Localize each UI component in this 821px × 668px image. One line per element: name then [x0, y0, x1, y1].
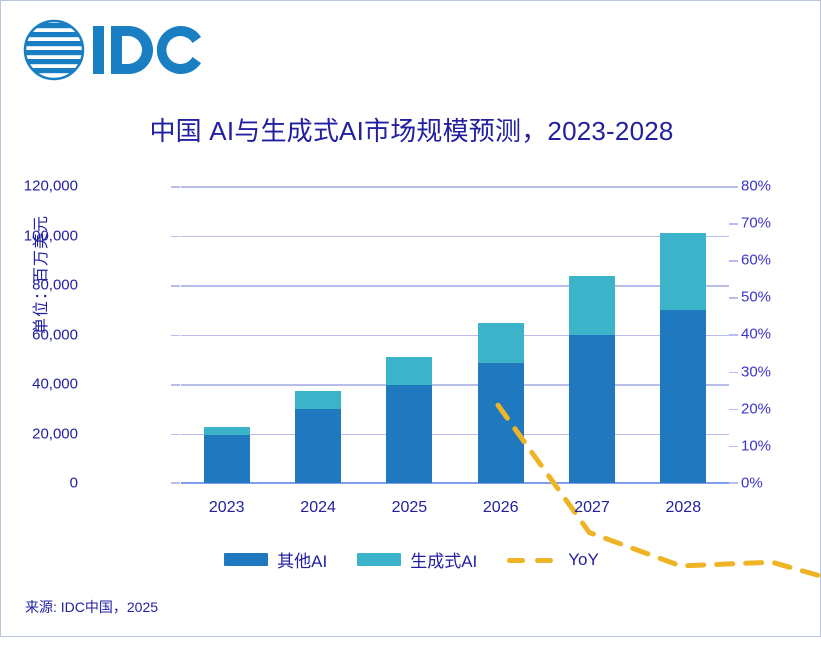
gridline-60000: [181, 335, 729, 337]
y-tick-label-20000: 20,000: [32, 425, 78, 442]
legend-item-other-ai[interactable]: 其他AI: [224, 547, 327, 572]
bar-segment-other-ai-2028: [660, 310, 706, 483]
source-note: 来源: IDC中国，2025: [25, 597, 158, 617]
bar-2024: [295, 391, 341, 483]
gridline-100000: [181, 236, 729, 238]
y2-tick-label-80: 80%: [741, 178, 771, 195]
legend-label-genai: 生成式AI: [410, 547, 477, 572]
tick-left-40000: [171, 384, 180, 386]
chart-title: 中国 AI与生成式AI市场规模预测，2023-2028: [1, 111, 821, 148]
y-tick-label-80000: 80,000: [32, 277, 78, 294]
gridline-40000: [181, 384, 729, 386]
bar-segment-genai-2024: [295, 391, 341, 409]
bar-segment-other-ai-2026: [478, 363, 524, 483]
legend-label-yoy: YoY: [568, 550, 599, 570]
bar-2028: [660, 233, 706, 483]
y-tick-label-120000: 120,000: [24, 178, 78, 195]
tick-left-80000: [171, 285, 180, 287]
y2-tick-label-50: 50%: [741, 289, 771, 306]
y-tick-label-40000: 40,000: [32, 376, 78, 393]
y-tick-label-60000: 60,000: [32, 326, 78, 343]
bar-2023: [204, 427, 250, 483]
bar-segment-genai-2028: [660, 233, 706, 310]
bar-segment-other-ai-2027: [569, 335, 615, 483]
y2-tick-label-20: 20%: [741, 400, 771, 417]
bar-segment-genai-2025: [386, 357, 432, 385]
y-tick-label-100000: 100,000: [24, 227, 78, 244]
tick-right-0: [729, 482, 738, 484]
gridline-20000: [181, 434, 729, 436]
legend-item-genai[interactable]: 生成式AI: [357, 547, 477, 572]
bar-segment-other-ai-2023: [204, 435, 250, 483]
legend-swatch-other-ai: [224, 553, 268, 566]
x-tick-label-2026: 2026: [456, 499, 546, 517]
gridline-120000: [181, 186, 729, 188]
tick-left-0: [171, 482, 180, 484]
x-tick-label-2024: 2024: [273, 499, 363, 517]
chart-page: 中国 AI与生成式AI市场规模预测，2023-2028 单位：百万美元 120,…: [0, 0, 821, 637]
gridline-80000: [181, 285, 729, 287]
y2-tick-label-0: 0%: [741, 475, 763, 492]
tick-left-20000: [171, 434, 180, 436]
bar-segment-genai-2027: [569, 276, 615, 335]
legend-label-other-ai: 其他AI: [277, 547, 327, 572]
tick-left-120000: [171, 186, 180, 188]
x-tick-label-2025: 2025: [364, 499, 454, 517]
tick-left-60000: [171, 335, 180, 337]
bar-2027: [569, 276, 615, 483]
bar-2025: [386, 357, 432, 483]
x-tick-label-2023: 2023: [182, 499, 272, 517]
bar-segment-other-ai-2024: [295, 409, 341, 483]
y-tick-label-0: 0: [70, 475, 78, 492]
tick-left-100000: [171, 236, 180, 238]
legend-swatch-yoy: [507, 553, 559, 566]
tick-right-80: [729, 186, 738, 188]
x-axis-line: [181, 482, 729, 484]
x-tick-label-2028: 2028: [638, 499, 728, 517]
plot-area: [181, 186, 729, 483]
y2-tick-label-70: 70%: [741, 215, 771, 232]
idc-logo: [23, 19, 213, 81]
bar-segment-genai-2026: [478, 323, 524, 363]
y2-tick-label-40: 40%: [741, 326, 771, 343]
y2-tick-label-60: 60%: [741, 252, 771, 269]
bar-2026: [478, 323, 524, 483]
chart-legend: 其他AI 生成式AI YoY: [1, 547, 821, 572]
x-tick-label-2027: 2027: [547, 499, 637, 517]
tick-right-40: [729, 334, 738, 336]
legend-swatch-genai: [357, 553, 401, 566]
y2-tick-label-10: 10%: [741, 437, 771, 454]
tick-right-60: [729, 260, 738, 262]
tick-right-30: [729, 372, 738, 374]
bar-segment-genai-2023: [204, 427, 250, 435]
tick-right-20: [729, 409, 738, 411]
y2-tick-label-30: 30%: [741, 363, 771, 380]
tick-right-70: [729, 223, 738, 225]
legend-item-yoy[interactable]: YoY: [507, 550, 599, 570]
bar-segment-other-ai-2025: [386, 385, 432, 483]
tick-right-10: [729, 446, 738, 448]
tick-right-50: [729, 297, 738, 299]
